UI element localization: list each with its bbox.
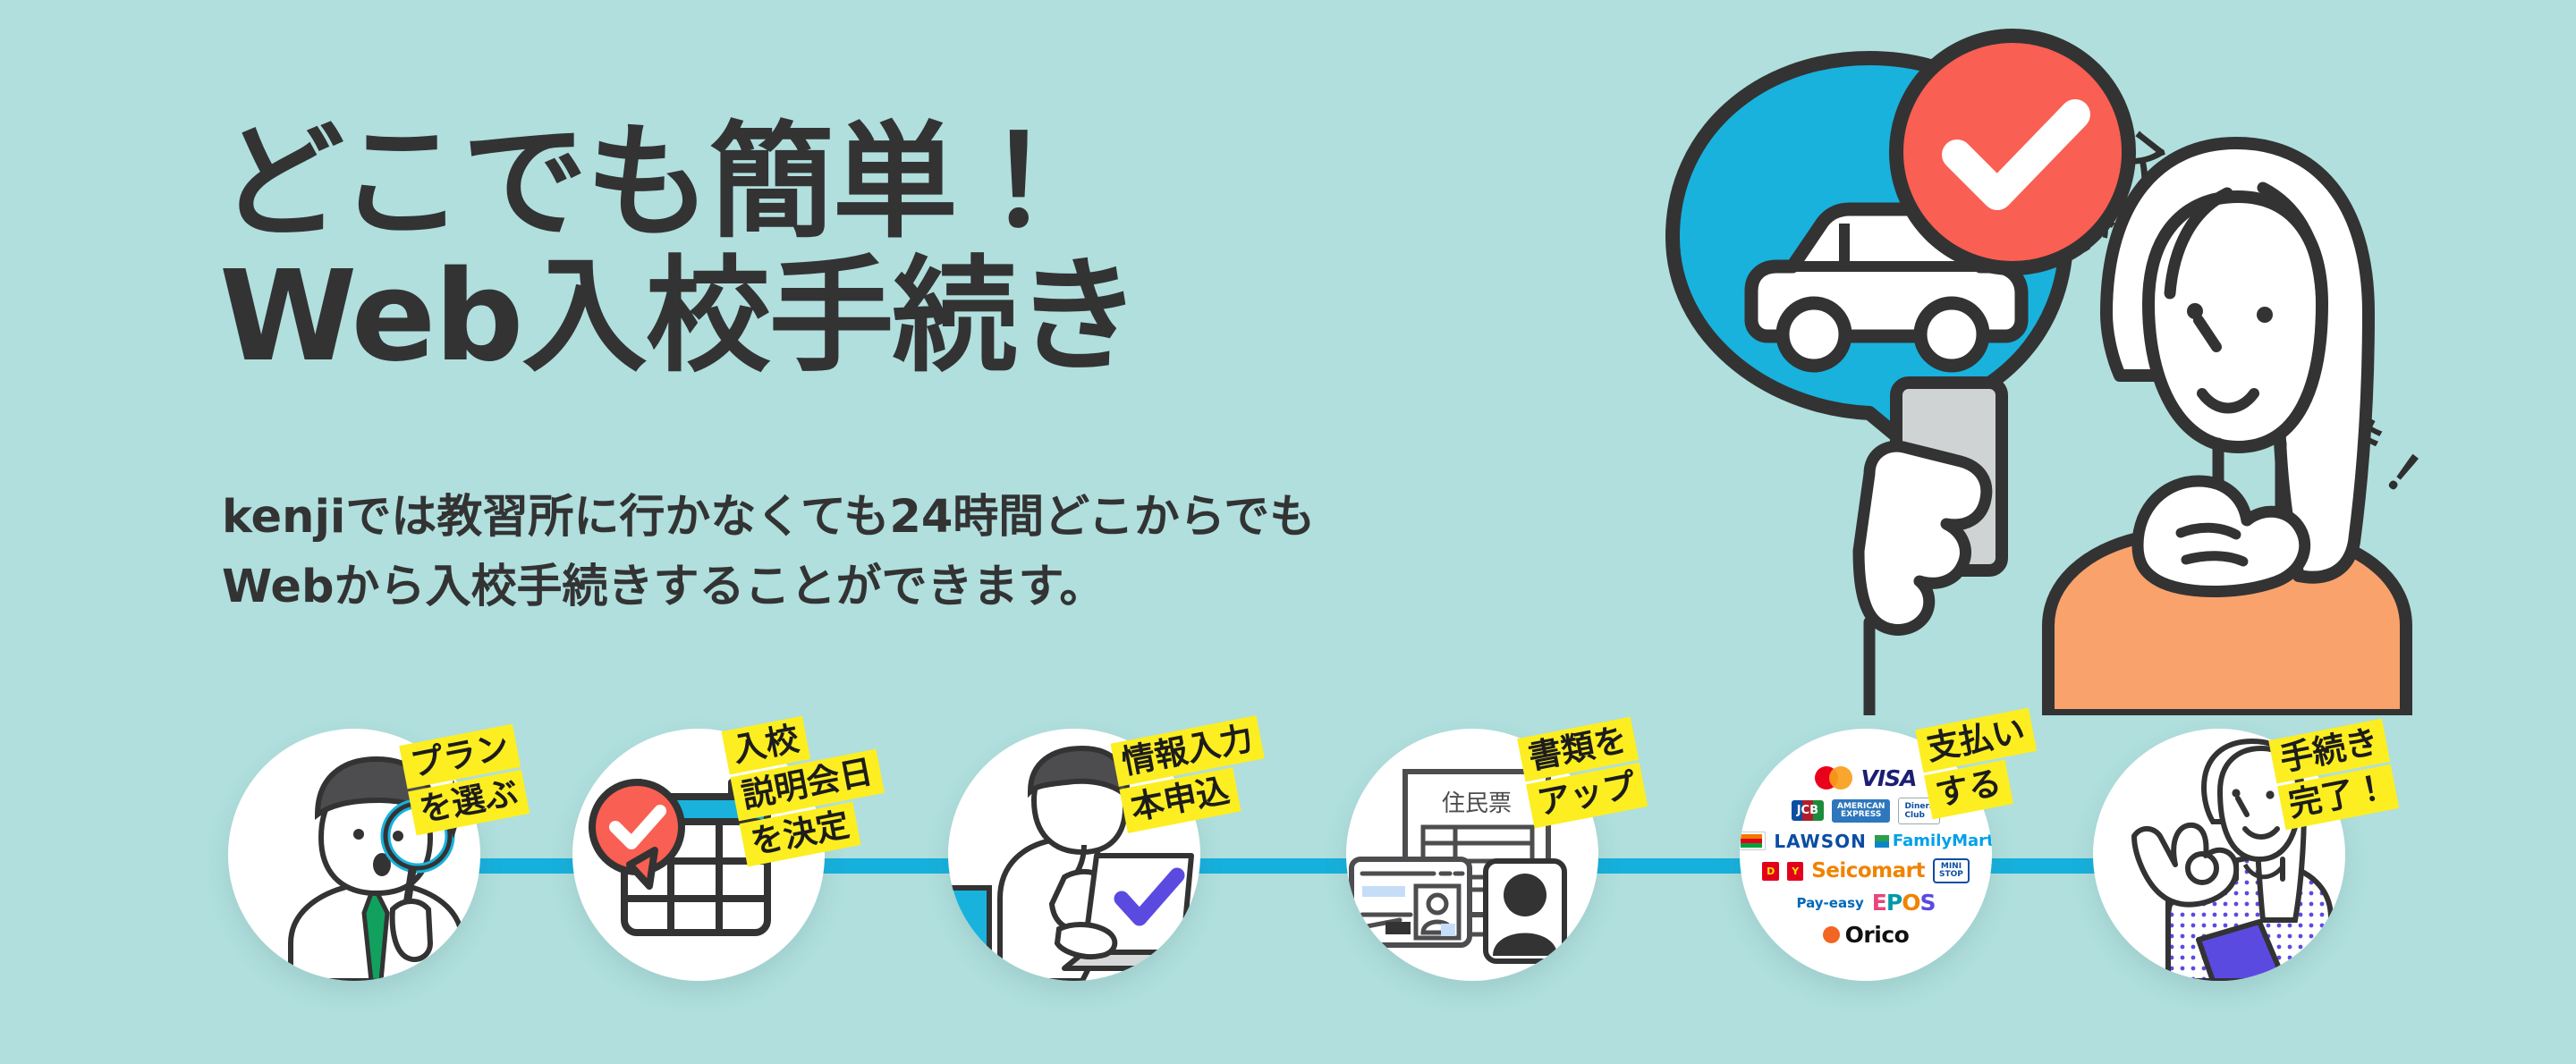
seven-eleven-logo bbox=[1740, 832, 1766, 850]
yamazaki-logo: Y bbox=[1787, 862, 1803, 881]
visa-logo: VISA bbox=[1860, 765, 1916, 791]
ministop-logo: MINISTOP bbox=[1933, 858, 1970, 884]
epos-logo: EPOS bbox=[1872, 890, 1936, 916]
step-label: 入校 説明会日 を決定 bbox=[733, 716, 882, 857]
step-select-plan[interactable]: プラン を選ぶ bbox=[228, 729, 496, 997]
page-title: どこでも簡単！ Web入校手続き bbox=[219, 116, 1400, 384]
lawson-logo: LAWSON bbox=[1774, 831, 1867, 852]
step-label: 手続き 完了！ bbox=[2276, 729, 2392, 823]
document-title: 住民票 bbox=[1442, 790, 1512, 817]
subcopy-line-2: Webから入校手続きすることができます。 bbox=[222, 553, 1474, 622]
jcb-logo: JCB bbox=[1792, 800, 1824, 821]
step-decide-orientation-date[interactable]: 入校 説明会日 を決定 bbox=[572, 729, 841, 997]
amex-logo: AMERICANEXPRESS bbox=[1832, 799, 1890, 823]
step-make-payment[interactable]: VISA JCB AMERICANEXPRESS DinersClub L bbox=[1740, 729, 2008, 997]
daily-yamazaki-logo: D bbox=[1762, 862, 1779, 881]
headline-line-1: どこでも簡単！ bbox=[219, 116, 1400, 250]
step-label: 支払い する bbox=[1923, 718, 2038, 812]
subcopy: kenjiでは教習所に行かなくても24時間どこからでも Webから入校手続きする… bbox=[222, 483, 1474, 621]
step-enter-info-apply[interactable]: 情報入力 本申込 bbox=[948, 729, 1216, 997]
step-label: プラン を選ぶ bbox=[407, 734, 522, 828]
step-label: 書類を アップ bbox=[1525, 727, 1640, 821]
banner-stage: どこでも簡単！ Web入校手続き kenjiでは教習所に行かなくても24時間どこ… bbox=[0, 0, 2576, 1064]
step-label-line: 支払い bbox=[1915, 708, 2037, 773]
hero-illustration bbox=[1601, 9, 2576, 715]
pay-easy-logo: Pay-easy bbox=[1797, 895, 1864, 911]
familymart-logo: FamilyMart bbox=[1875, 832, 1992, 850]
check-circle-icon bbox=[1896, 36, 2129, 268]
seicomart-logo: Seicomart bbox=[1811, 859, 1925, 882]
mastercard-logo bbox=[1815, 766, 1852, 790]
subcopy-line-1: kenjiでは教習所に行かなくても24時間どこからでも bbox=[222, 483, 1474, 553]
steps-row: プラン を選ぶ 入校 説明 bbox=[0, 729, 2576, 1033]
step-procedure-complete[interactable]: 手続き 完了！ bbox=[2093, 729, 2361, 997]
step-label: 情報入力 本申込 bbox=[1118, 729, 1267, 823]
orico-logo: Orico bbox=[1823, 922, 1910, 948]
step-upload-documents[interactable]: 住民票 bbox=[1346, 729, 1614, 997]
headline-line-2: Web入校手続き bbox=[219, 250, 1400, 384]
